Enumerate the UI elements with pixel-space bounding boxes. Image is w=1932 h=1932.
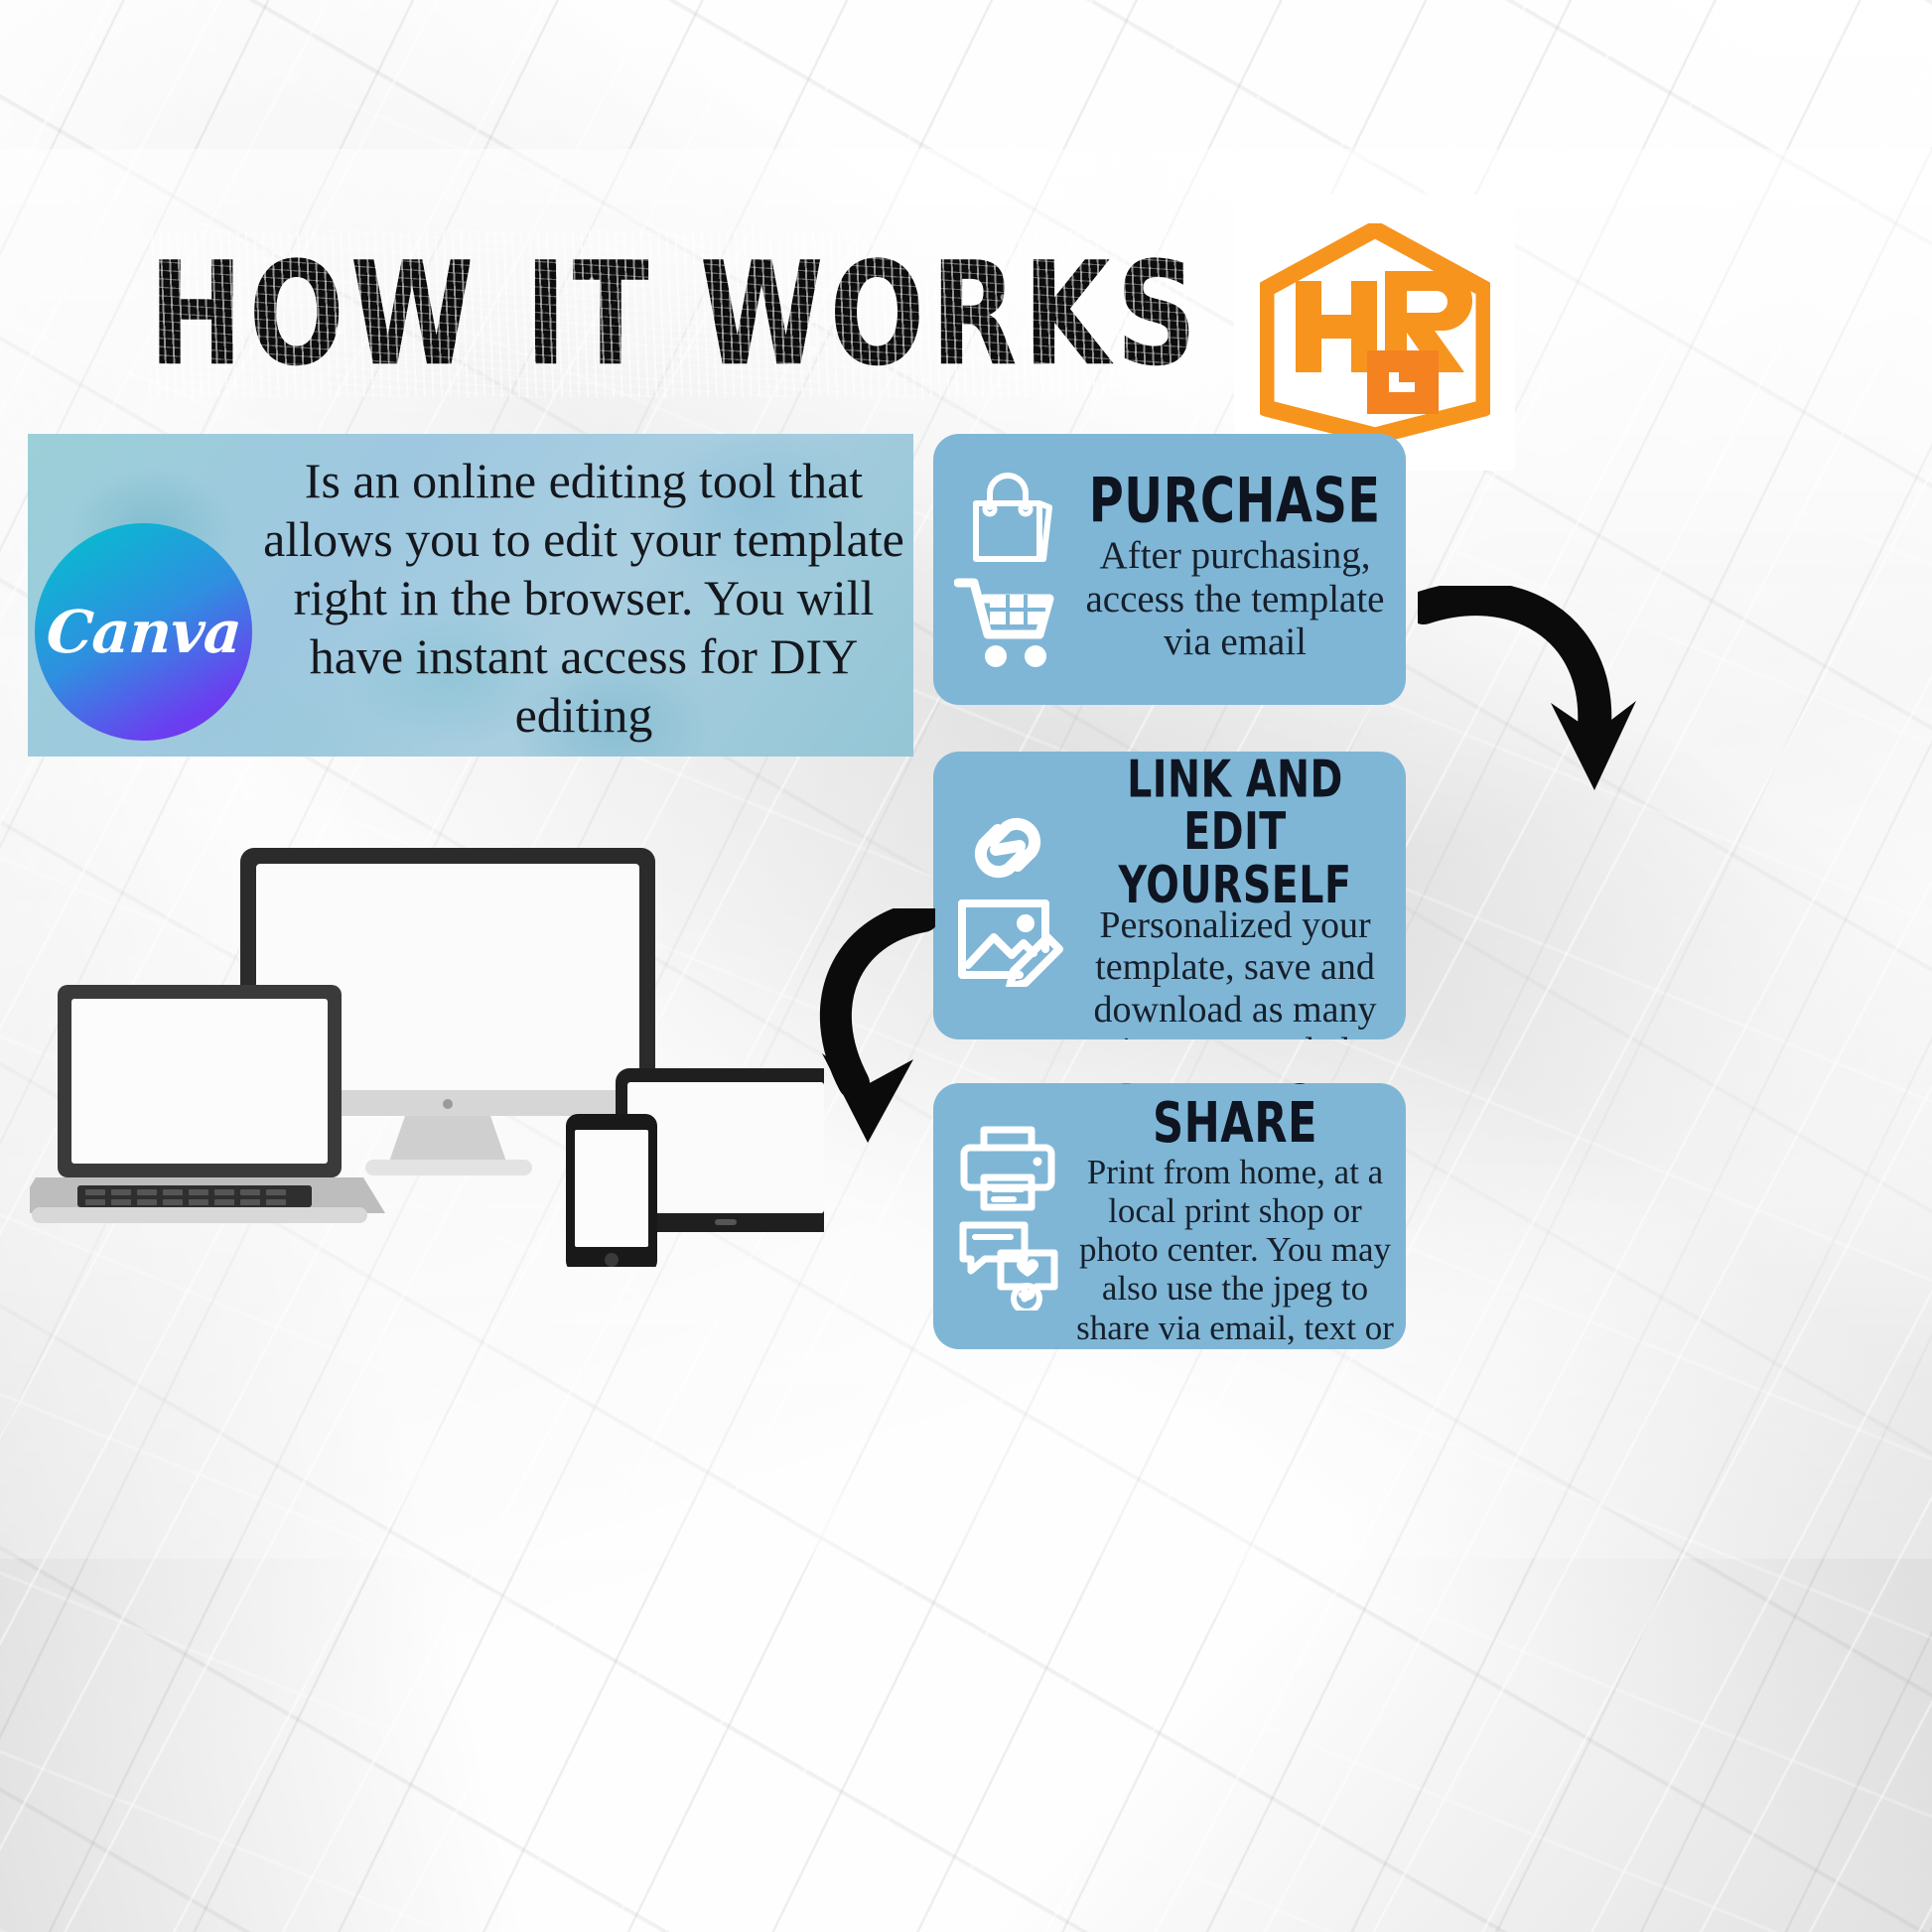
shopping-bag-icon (960, 470, 1055, 573)
purchase-card-description: After purchasing, access the template vi… (1074, 534, 1396, 664)
edit-card-title: CLICK THE LINK AND EDIT YOURSELF (1087, 752, 1383, 913)
edit-card-icons (933, 752, 1082, 1039)
page-title-text: HOW IT WORKS (149, 230, 1202, 397)
purchase-card-body: PURCHASE After purchasing, access the te… (1074, 434, 1396, 705)
brand-logo: HRG (1234, 195, 1515, 471)
edit-card-body: CLICK THE LINK AND EDIT YOURSELF Persona… (1074, 752, 1396, 1039)
print-card-body: PRINT OR SHARE Print from home, at a loc… (1074, 1083, 1396, 1349)
purchase-card-icons (933, 434, 1082, 705)
canva-logo: Canva (35, 523, 252, 741)
shopping-cart-icon (954, 575, 1061, 670)
step-card-edit[interactable]: CLICK THE LINK AND EDIT YOURSELF Persona… (933, 752, 1406, 1039)
canva-info-banner: Canva Is an online editing tool that all… (28, 434, 913, 757)
hrg-cube-logo-icon (1260, 223, 1490, 442)
step-card-print[interactable]: PRINT OR SHARE Print from home, at a loc… (933, 1083, 1406, 1349)
canva-description: Is an online editing tool that allows yo… (262, 452, 905, 745)
purchase-card-title: PURCHASE (1089, 470, 1381, 534)
printer-icon (956, 1122, 1059, 1213)
page-title: HOW IT WORKS (149, 230, 1202, 397)
link-chain-icon (954, 804, 1061, 892)
curved-arrow-down-left-icon (806, 908, 935, 1152)
curved-arrow-down-right-icon (1418, 586, 1636, 814)
share-chat-icon (953, 1215, 1062, 1311)
edit-card-description: Personalized your template, save and dow… (1074, 904, 1396, 1039)
canva-logo-label: Canva (44, 598, 242, 666)
print-card-title: PRINT OR SHARE (1087, 1083, 1383, 1154)
image-edit-icon (952, 894, 1063, 987)
step-card-purchase[interactable]: PURCHASE After purchasing, access the te… (933, 434, 1406, 705)
print-card-icons (933, 1083, 1082, 1349)
print-card-description: Print from home, at a local print shop o… (1074, 1153, 1396, 1349)
device-mockup (30, 840, 824, 1267)
